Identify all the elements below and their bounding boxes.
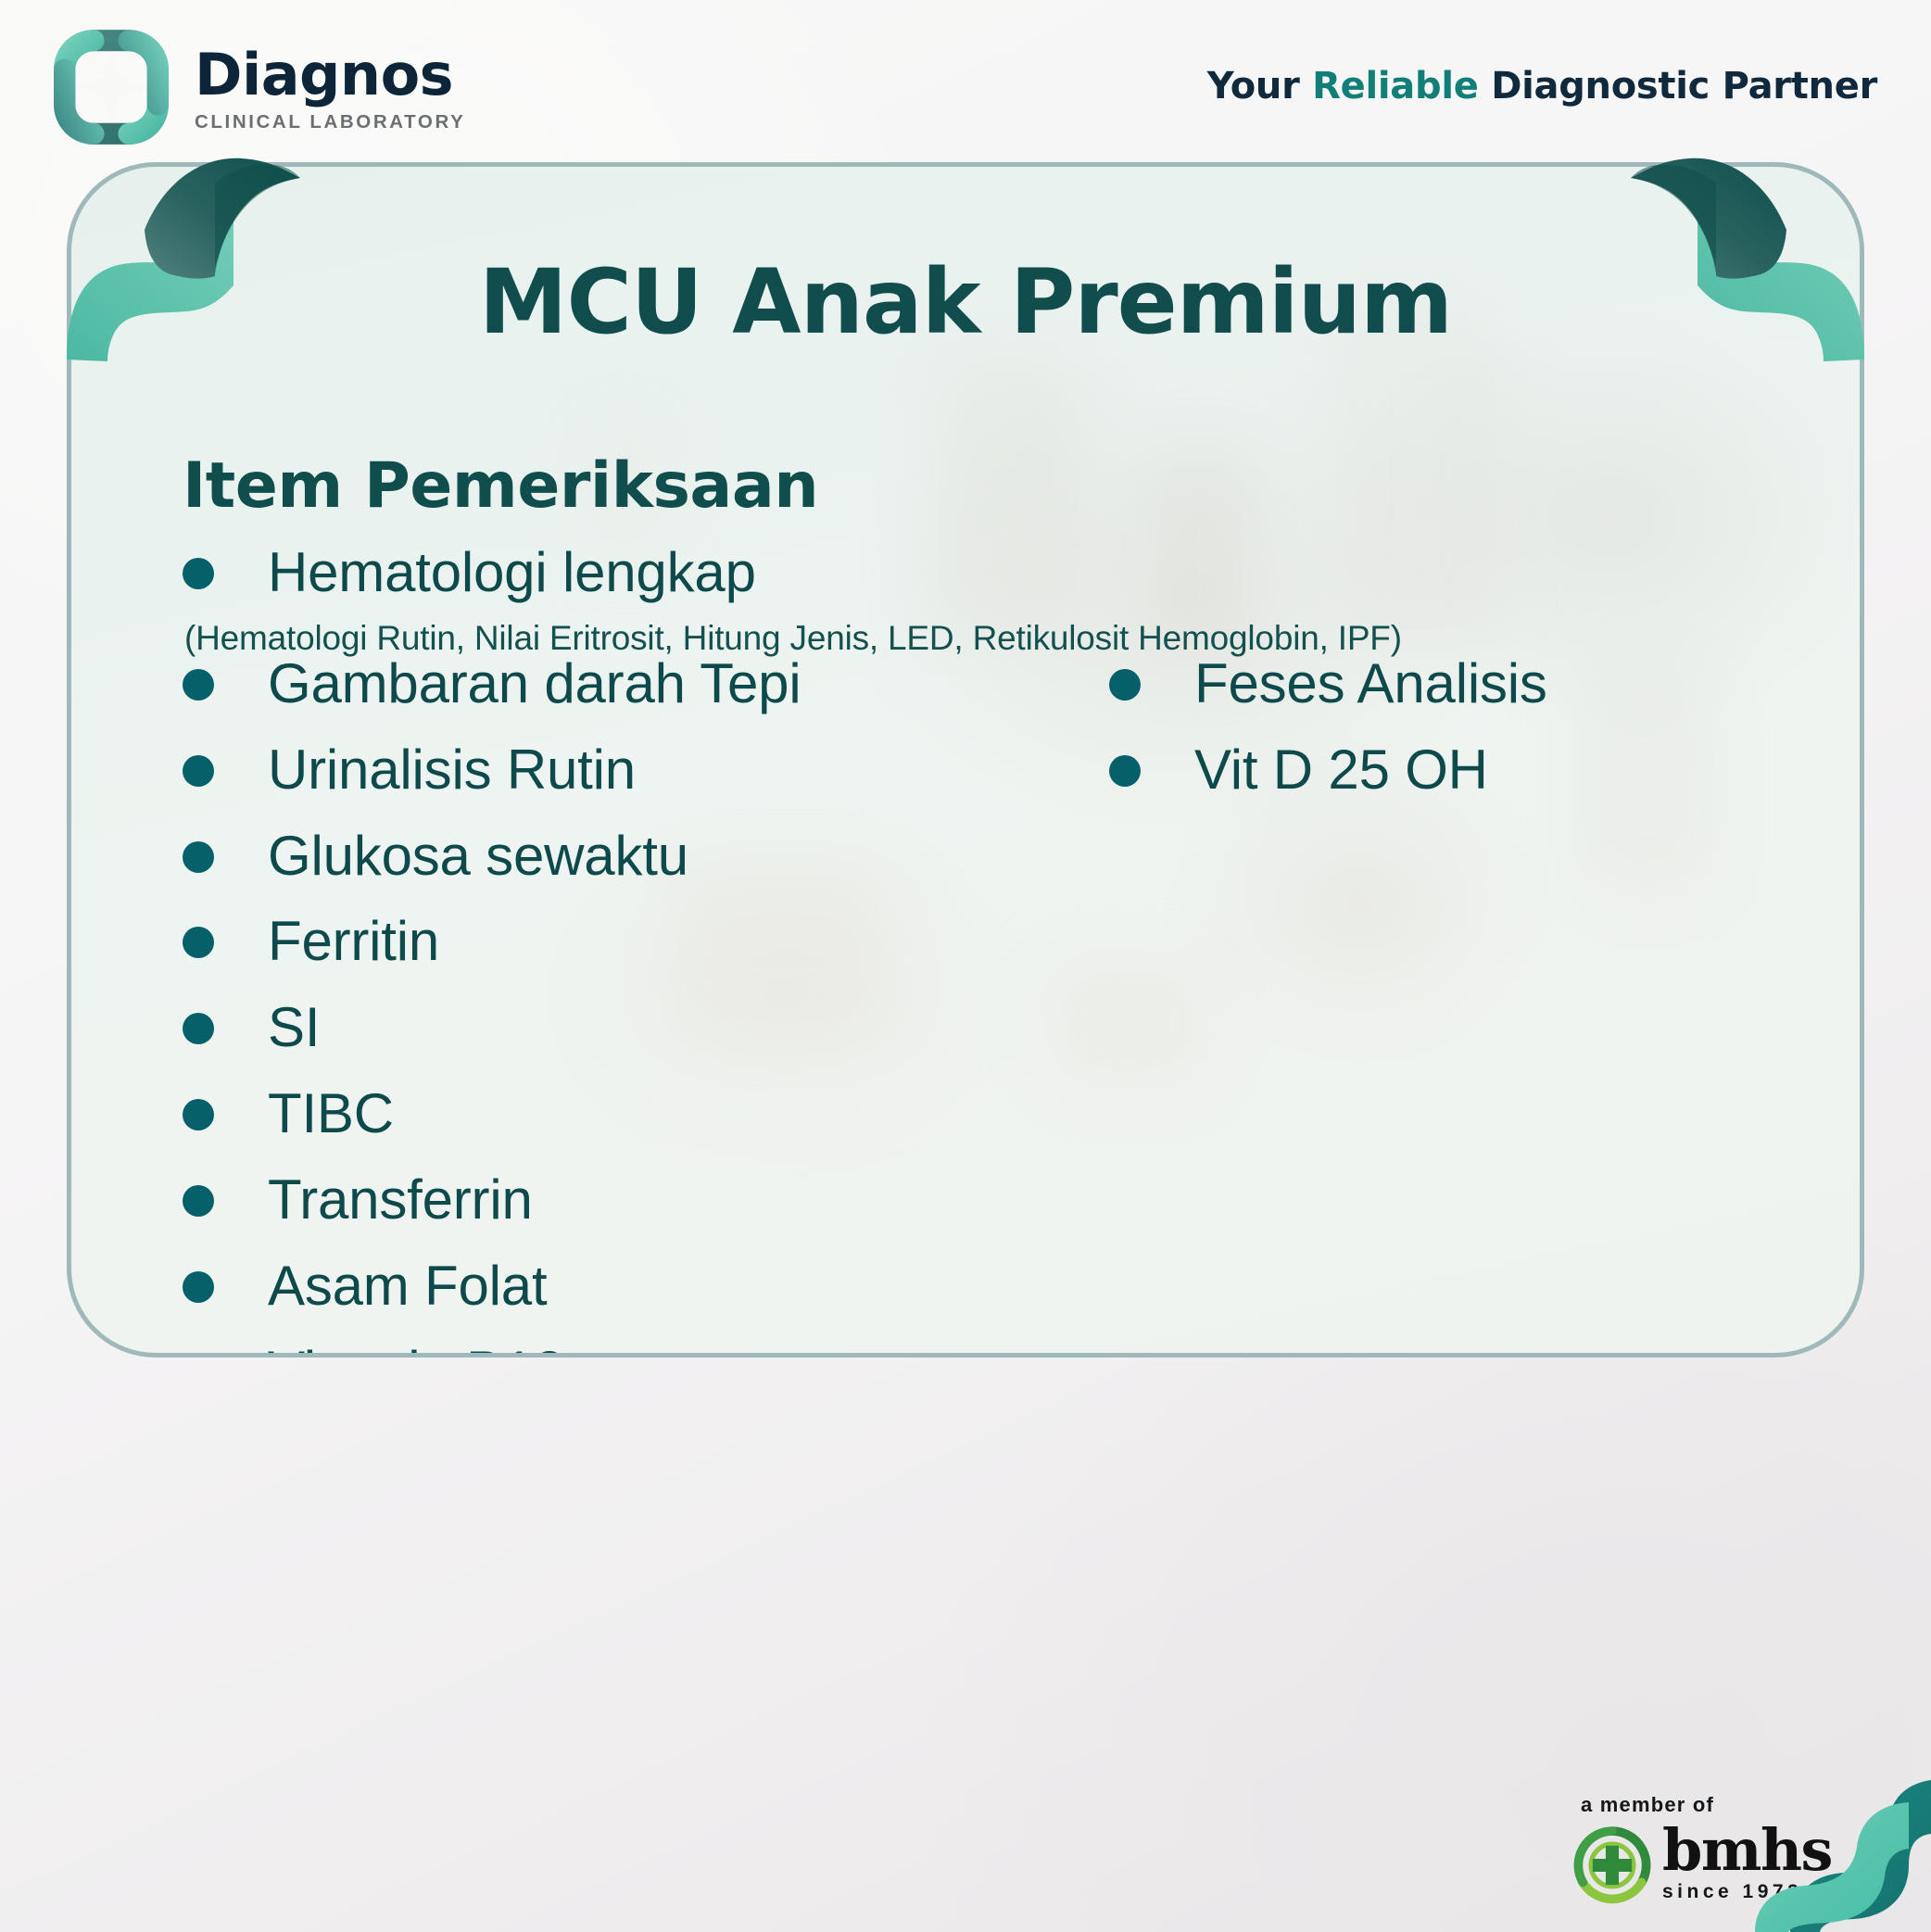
bullet-dot-icon [183, 1099, 214, 1130]
bullet-dot-icon [183, 841, 214, 873]
brand-name: Diagnos [195, 46, 465, 104]
bullet-dot-icon [183, 927, 214, 958]
bullet-dot-icon [183, 1357, 214, 1357]
list-item-label: Vitamin B12 [268, 1336, 564, 1357]
list-item-label: Asam Folat [268, 1251, 547, 1322]
list-item: Feses Analisis [1109, 649, 1813, 720]
list-item-label: SI [268, 992, 320, 1064]
bullet-dot-icon [183, 558, 214, 589]
list-item-label: Vit D 25 OH [1194, 735, 1488, 806]
list-item-label: Ferritin [268, 906, 439, 978]
bullet-dot-icon [183, 669, 214, 701]
list-item: Ferritin [183, 906, 1128, 978]
content-card: MCU Anak Premium Item Pemeriksaan Hemato… [67, 162, 1864, 1357]
list-item-label: Urinalisis Rutin [268, 735, 636, 806]
bullet-dot-icon [183, 1185, 214, 1217]
list-item: Asam Folat [183, 1251, 1128, 1322]
cross-ribbon-icon [48, 24, 174, 150]
list-item-label: Feses Analisis [1194, 649, 1547, 720]
page-title: MCU Anak Premium [71, 250, 1860, 354]
bullet-dot-icon [183, 1013, 214, 1044]
bmhs-cross-circle-icon [1571, 1825, 1653, 1906]
list-item: Vitamin B12 [183, 1336, 1128, 1357]
list-item: Vit D 25 OH [1109, 735, 1813, 806]
tagline-part2: Diagnostic Partner [1479, 65, 1877, 107]
partner-name: bmhs [1662, 1825, 1832, 1875]
list-item-label: Gambaran darah Tepi [268, 649, 801, 720]
partner-since: since 1973 [1662, 1881, 1832, 1903]
list-item: TIBC [183, 1079, 1128, 1150]
brand-subtitle: CLINICAL LABORATORY [195, 111, 465, 133]
bullet-dot-icon [1109, 669, 1141, 701]
member-label: a member of [1581, 1793, 1849, 1817]
content-card-wrapper: MCU Anak Premium Item Pemeriksaan Hemato… [67, 162, 1864, 1357]
bullet-dot-icon [1109, 755, 1141, 787]
tagline-accent: Reliable [1312, 65, 1478, 107]
items-right-column: Feses Analisis Vit D 25 OH [1109, 649, 1813, 821]
list-item: Glukosa sewaktu [183, 821, 1128, 892]
brand-wordmark: Diagnos CLINICAL LABORATORY [195, 41, 465, 133]
item-hematologi-lengkap: Hematologi lengkap (Hematologi Rutin, Ni… [183, 537, 1813, 662]
list-item-label: Hematologi lengkap [268, 537, 756, 609]
list-item: Transferrin [183, 1165, 1128, 1236]
list-item-label: Glukosa sewaktu [268, 821, 688, 892]
bullet-dot-icon [183, 755, 214, 787]
items-left-column: Gambaran darah Tepi Urinalisis Rutin Glu… [183, 649, 1128, 1357]
section-heading: Item Pemeriksaan [183, 449, 818, 523]
list-item: SI [183, 992, 1128, 1064]
brand-logo: Diagnos CLINICAL LABORATORY [48, 24, 465, 150]
bmhs-wordmark: bmhs since 1973 [1662, 1825, 1832, 1904]
list-item: Gambaran darah Tepi [183, 649, 1128, 720]
tagline: Your Reliable Diagnostic Partner [1207, 65, 1877, 107]
member-badge: a member of bmhs since 1973 [1571, 1793, 1849, 1906]
tagline-part1: Your [1207, 65, 1312, 107]
list-item: Hematologi lengkap [183, 537, 1813, 609]
bullet-dot-icon [183, 1271, 214, 1303]
list-item: Urinalisis Rutin [183, 735, 1128, 806]
page-header: Diagnos CLINICAL LABORATORY Your Reliabl… [0, 0, 1931, 162]
list-item-label: Transferrin [268, 1165, 533, 1236]
list-item-label: TIBC [268, 1079, 394, 1150]
